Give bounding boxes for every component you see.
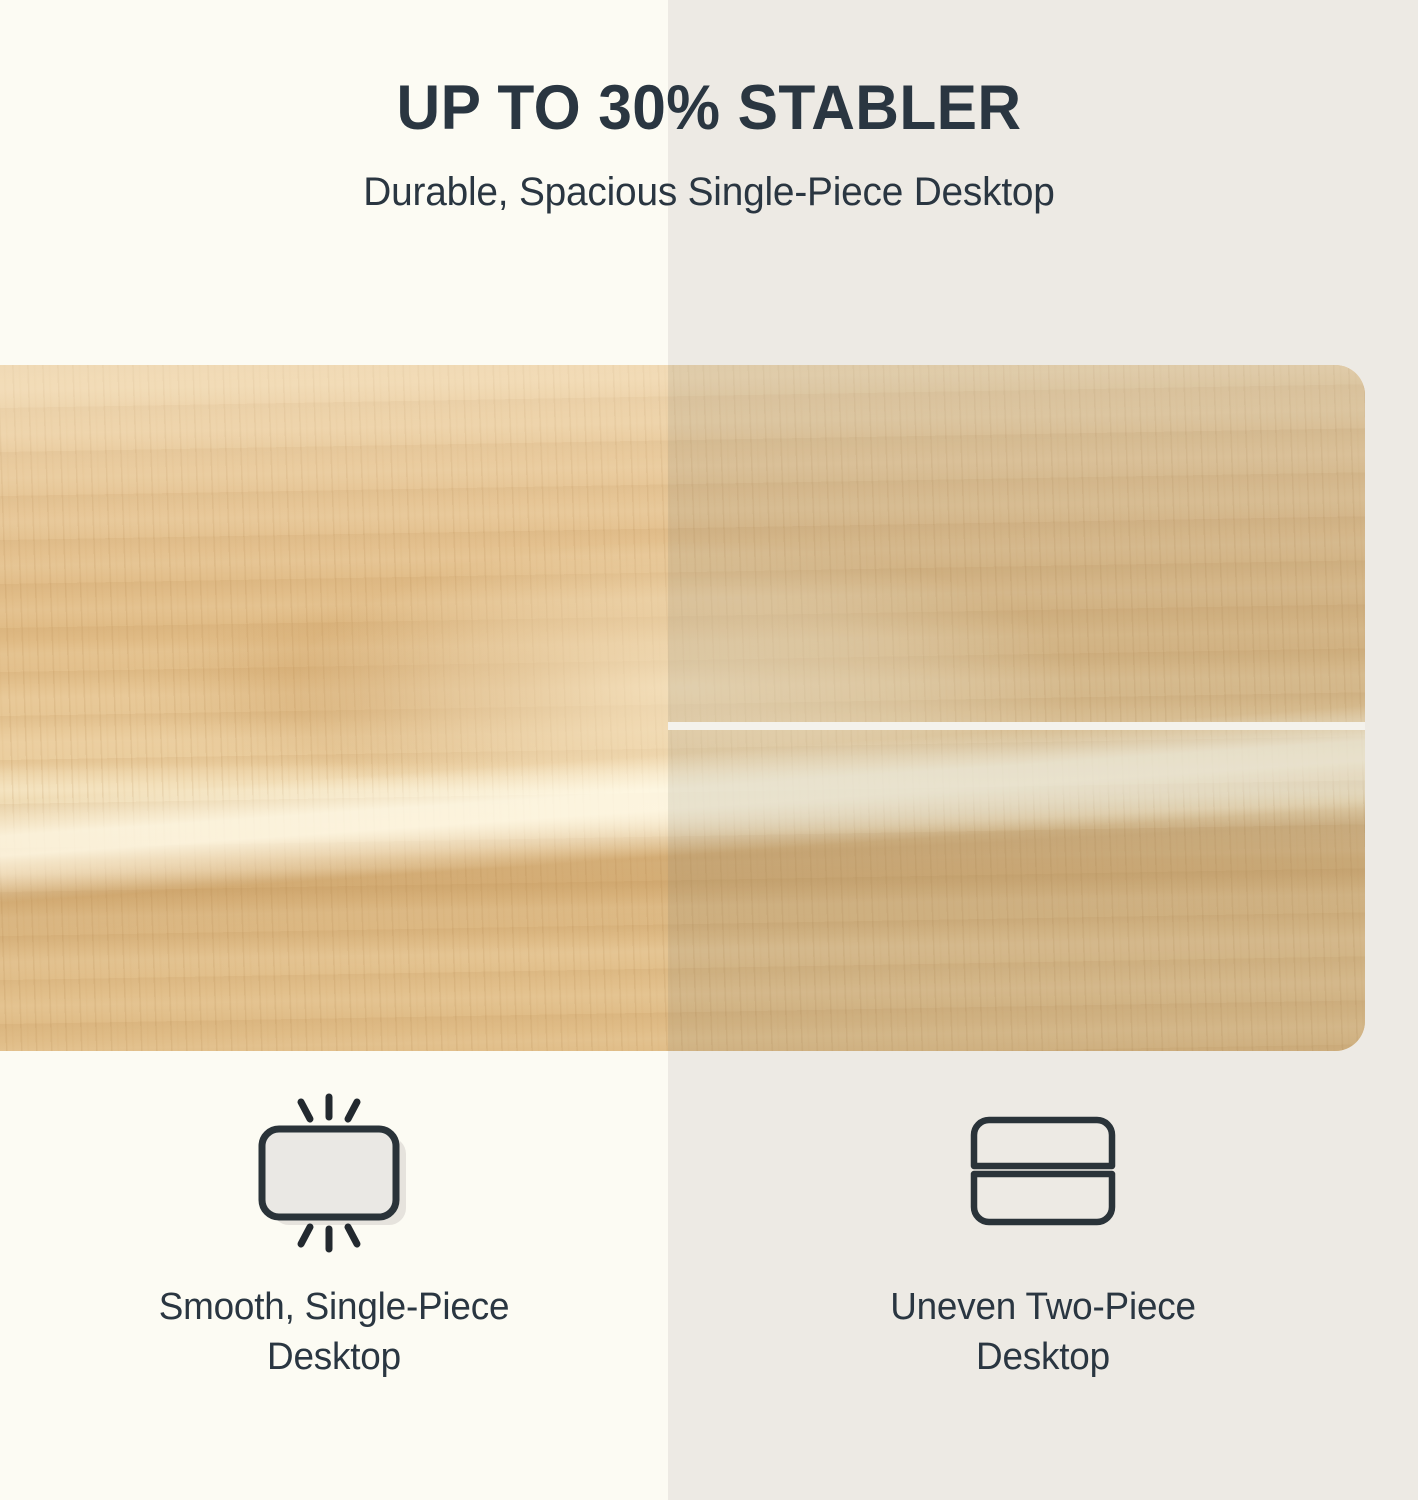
single-slab-sparkle-icon-svg [246,1091,422,1257]
caption-line-2: Desktop [267,1336,401,1378]
wood-grain-texture [0,365,1365,1051]
caption-line-1: Uneven Two-Piece [890,1286,1196,1328]
headline-block: UP TO 30% STABLER Durable, Spacious Sing… [0,0,1418,216]
slab-shape-lower [974,1174,1112,1222]
comparison-columns: Smooth, Single-Piece Desktop Uneven Two-… [0,1088,1418,1448]
caption-line-1: Smooth, Single-Piece [159,1286,510,1328]
sparkle-lines-top [301,1097,357,1119]
slab-shape [262,1129,396,1217]
comparison-column-single-piece: Smooth, Single-Piece Desktop [0,1088,668,1448]
single-slab-sparkle-icon [246,1088,422,1260]
page-subtitle: Durable, Spacious Single-Piece Desktop [21,142,1396,216]
comparison-column-two-piece: Uneven Two-Piece Desktop [668,1088,1418,1448]
slab-shape-upper [974,1120,1112,1166]
caption-two-piece: Uneven Two-Piece Desktop [815,1260,1271,1382]
sparkle-lines-bottom [301,1227,357,1249]
page-title: UP TO 30% STABLER [28,0,1389,142]
product-comparison-infographic: UP TO 30% STABLER Durable, Spacious Sing… [0,0,1418,1500]
two-stacked-slabs-icon [968,1088,1118,1260]
two-stacked-slabs-icon-svg [968,1114,1118,1234]
desktop-surface-image [0,365,1365,1051]
caption-line-2: Desktop [976,1336,1110,1378]
caption-single-piece: Smooth, Single-Piece Desktop [106,1260,562,1382]
